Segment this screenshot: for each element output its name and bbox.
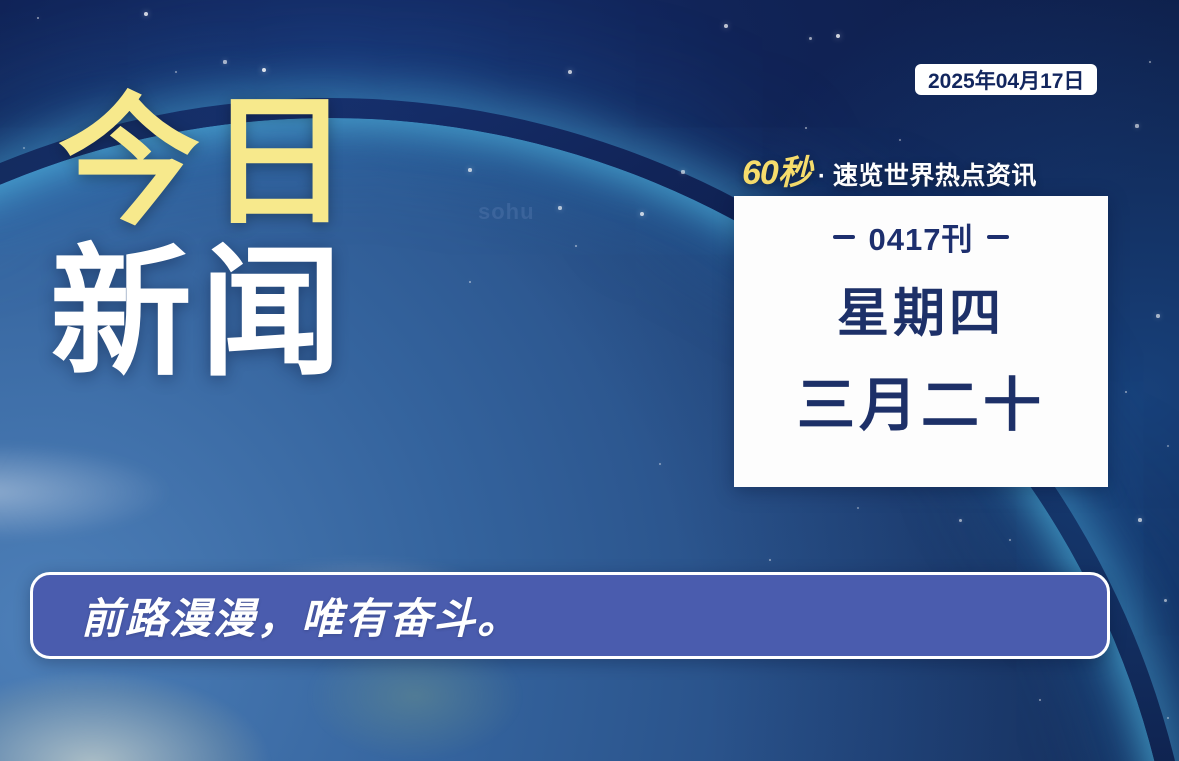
tagline: 60秒 · 速览世界热点资讯	[742, 145, 1037, 194]
background-watermark: sohu	[478, 199, 535, 225]
dash-right-icon	[987, 235, 1009, 239]
lunar-date-label: 三月二十	[797, 358, 1045, 442]
issue-number-row: 0417刊	[833, 214, 1010, 259]
headline-line-news: 新闻	[50, 247, 470, 382]
issue-info-card: 0417刊 星期四 三月二十	[734, 196, 1108, 487]
quote-bar: 前路漫漫，唯有奋斗。	[30, 572, 1110, 659]
issue-number-label: 0417刊	[869, 214, 974, 259]
tagline-seconds: 60秒	[742, 145, 811, 194]
dash-left-icon	[833, 235, 855, 239]
tagline-separator-dot: ·	[818, 163, 826, 191]
quote-text: 前路漫漫，唯有奋斗。	[81, 585, 521, 646]
headline-line-today: 今日	[58, 96, 470, 231]
weekday-label: 星期四	[837, 271, 1005, 346]
poster-headline: 今日 新闻	[50, 96, 470, 382]
poster-canvas: sohu 今日 新闻 2025年04月17日 60秒 · 速览世界热点资讯 04…	[0, 0, 1179, 761]
tagline-description: 速览世界热点资讯	[833, 156, 1037, 192]
date-badge: 2025年04月17日	[915, 64, 1097, 95]
